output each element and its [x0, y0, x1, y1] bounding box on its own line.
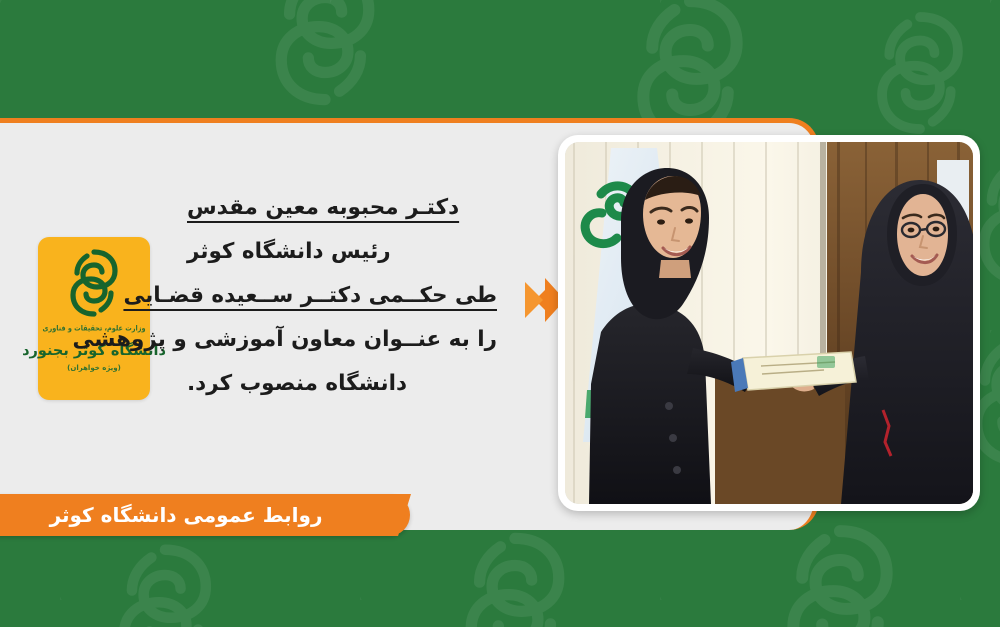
kowsar-emblem-watermark-3: [855, 8, 985, 138]
kowsar-emblem-watermark-5: [440, 528, 590, 627]
announcement-line-3: طی حکــمی دکتــر ســعیده قضـایی: [187, 274, 497, 318]
announcement-line-2: رئیس دانشگاه کوثر: [187, 230, 497, 274]
logo-sub-text: (ویژه خواهران): [67, 364, 121, 372]
announcement-line-4: را به عنــوان معاون آموزشی و پژوهشی: [187, 318, 497, 362]
ribbon-label: روابط عمومی دانشگاه کوثر: [50, 503, 323, 527]
kowsar-emblem-watermark-4: [95, 540, 235, 627]
announcement-line-5: دانشگاه منصوب کرد.: [187, 362, 497, 406]
kowsar-university-emblem: [63, 247, 125, 319]
kowsar-emblem-watermark-6: [760, 520, 920, 627]
announcement-banner: وزارت علوم، تحقیقات و فناوری دانشگاه کوث…: [0, 0, 1000, 627]
public-relations-ribbon: روابط عمومی دانشگاه کوثر: [0, 494, 410, 536]
kowsar-emblem-watermark-1: [250, 0, 400, 110]
announcement-text: دکتـر محبوبه معین مقدسرئیس دانشگاه کوثرط…: [187, 186, 497, 406]
appointment-ceremony-photo: [565, 142, 973, 504]
photo-frame: [558, 135, 980, 511]
announcement-line-1: دکتـر محبوبه معین مقدس: [187, 186, 497, 230]
